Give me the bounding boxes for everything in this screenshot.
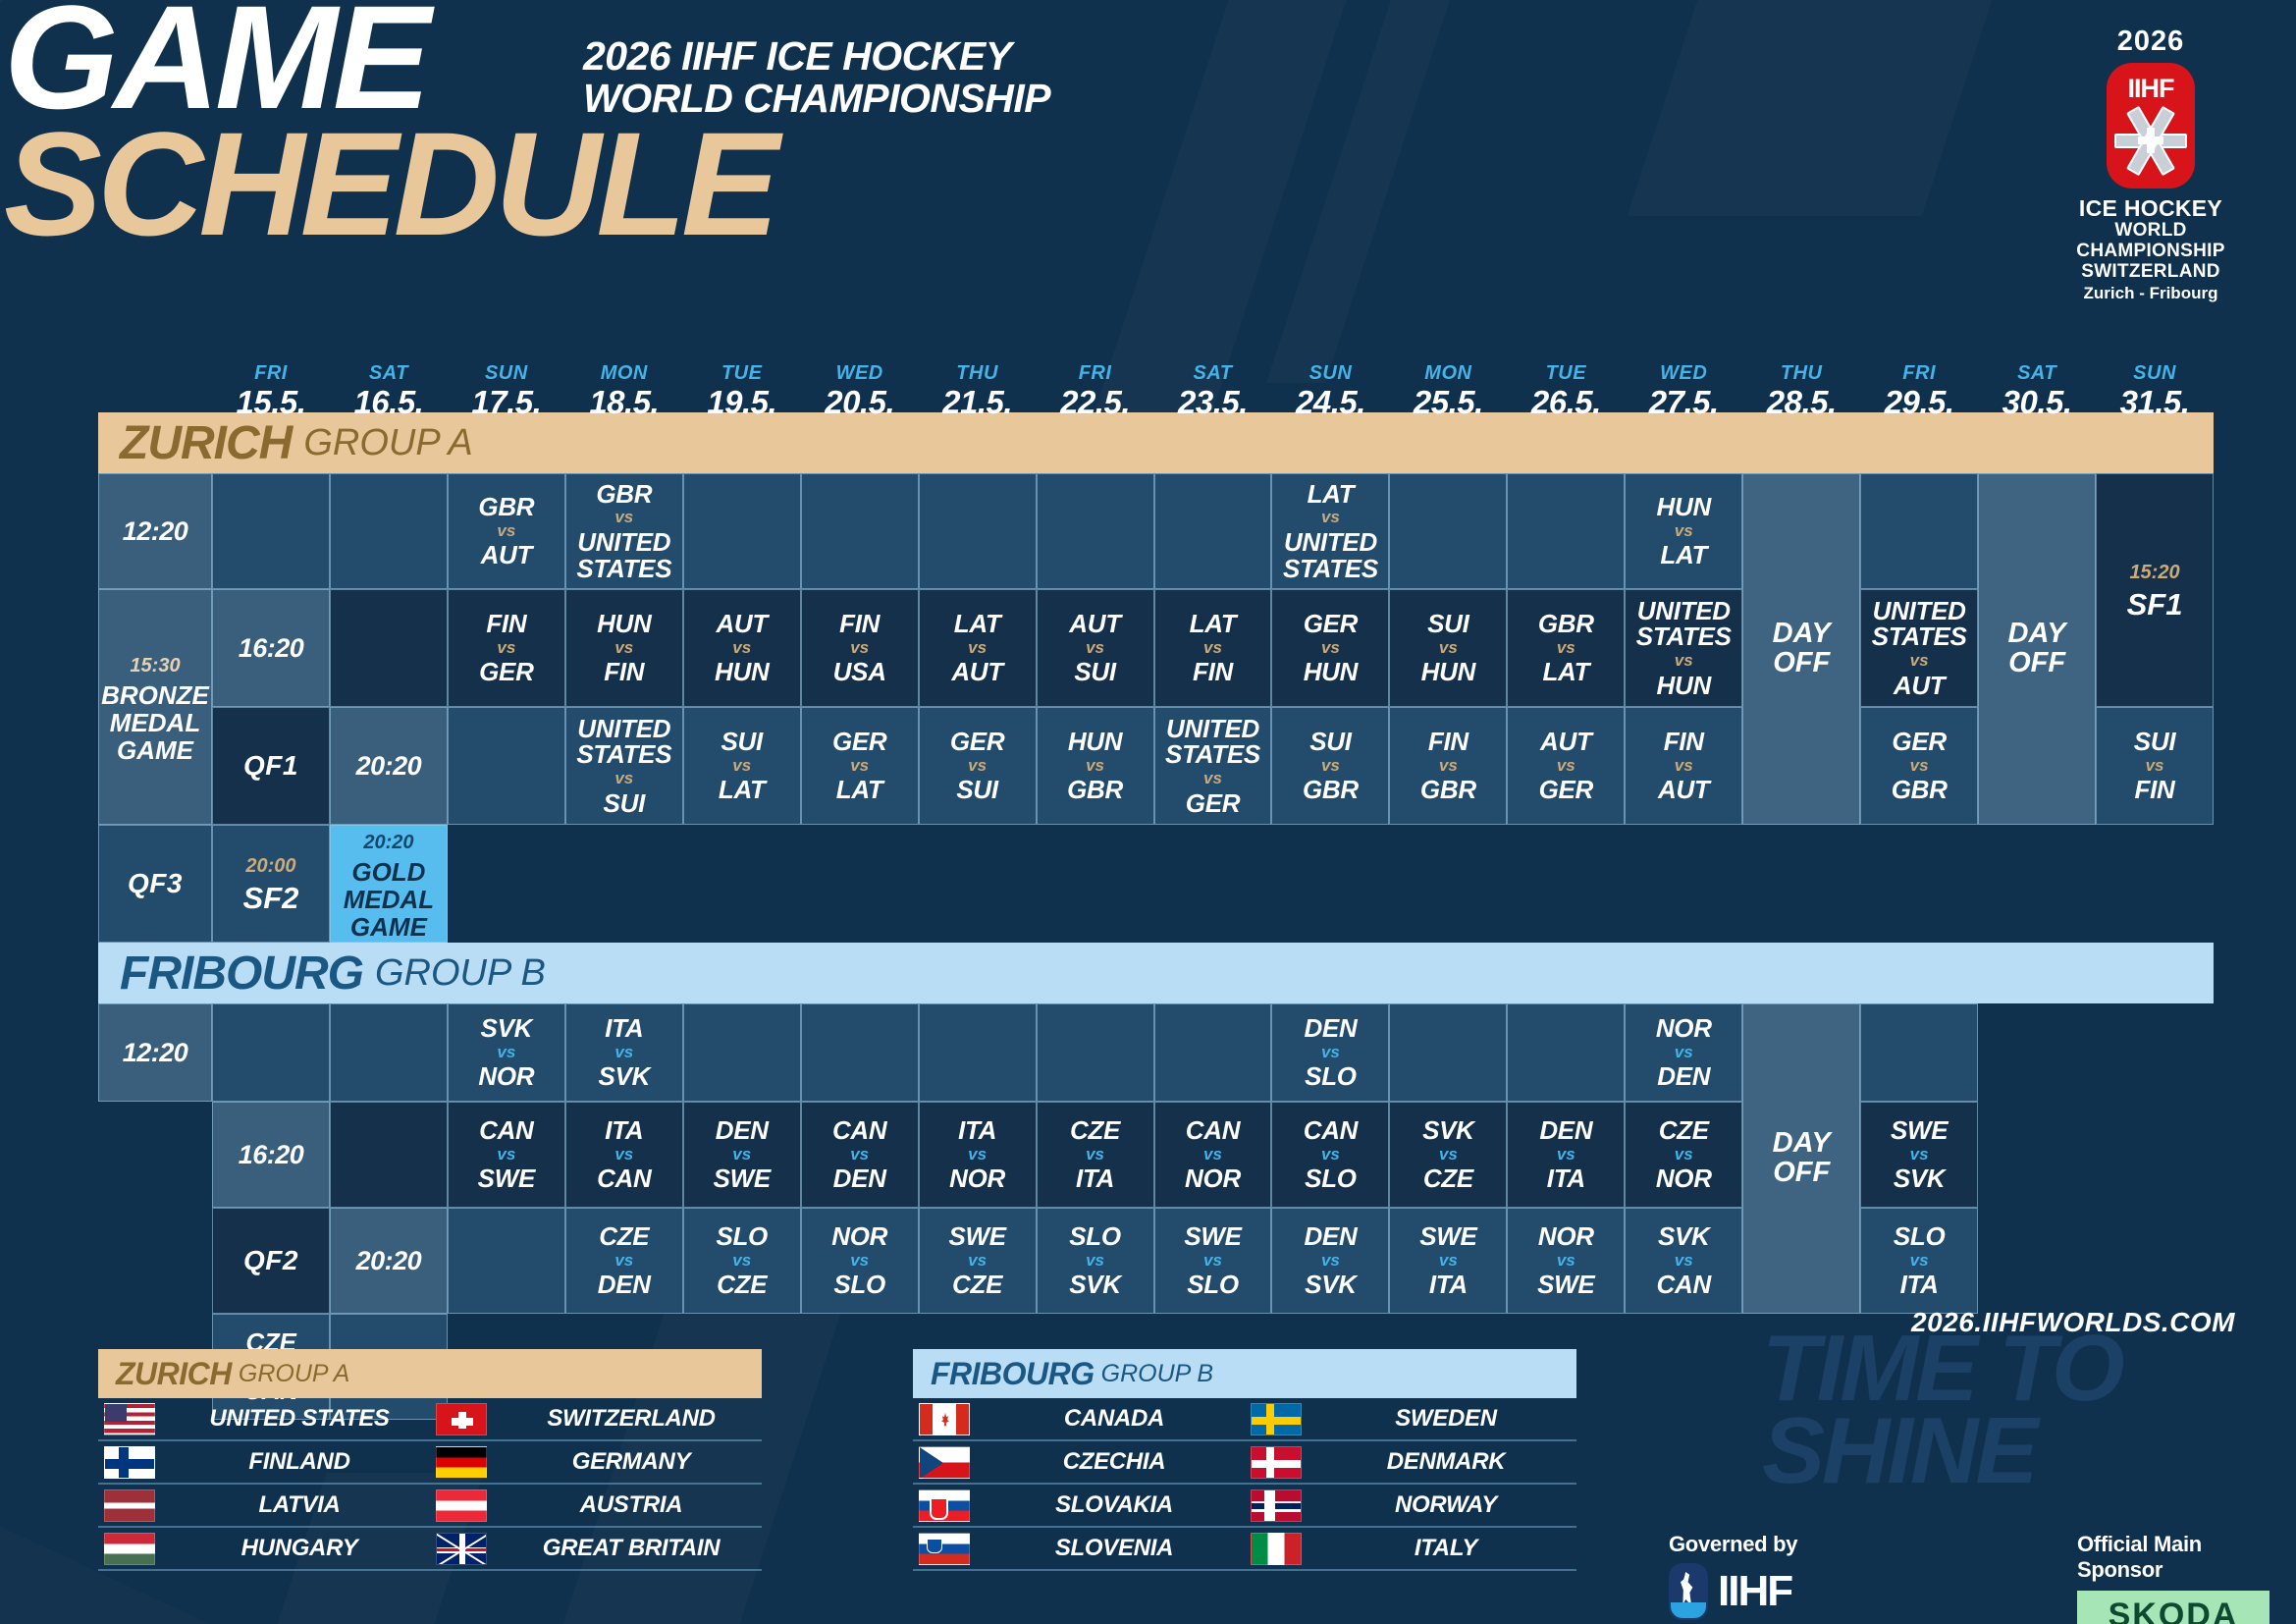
match-cell[interactable]: GERvsHUN: [1271, 589, 1389, 707]
vs-label: vs: [716, 1250, 768, 1272]
home-team: SUI: [719, 729, 766, 755]
date-number: 21.5.: [919, 386, 1037, 418]
date-header-3: SUN17.5.: [448, 361, 565, 418]
match-cell[interactable]: SVKvsCAN: [1625, 1208, 1742, 1314]
home-team: DEN: [1304, 1223, 1357, 1250]
match-cell[interactable]: LATvsUNITED STATES: [1271, 473, 1389, 589]
team-name: SLOVAKIA: [984, 1491, 1245, 1519]
legend-b-city: FRIBOURG: [931, 1356, 1095, 1392]
group-b-band-header: FRIBOURG GROUP B: [98, 943, 2214, 1003]
vs-label: vs: [1070, 1144, 1120, 1166]
match-cell[interactable]: NORvsSWE: [1507, 1208, 1625, 1314]
team-name: CZECHIA: [984, 1448, 1245, 1476]
legend-group-a: ZURICH GROUP A UNITED STATESSWITZERLANDF…: [98, 1349, 762, 1571]
home-team: GBR: [1538, 611, 1594, 637]
home-team: CAN: [478, 1117, 535, 1144]
away-team: FIN: [1190, 659, 1237, 685]
vs-label: vs: [719, 755, 766, 778]
vs-label: vs: [1658, 755, 1710, 778]
vs-label: vs: [1304, 1250, 1357, 1272]
vs-label: vs: [1069, 637, 1121, 660]
vs-label: vs: [1538, 637, 1594, 660]
match-cell[interactable]: CANvsNOR: [1154, 1102, 1272, 1208]
empty-cell: [1037, 473, 1154, 589]
match-cell[interactable]: CZEvsNOR: [1625, 1102, 1742, 1208]
empty-cell: [1154, 1003, 1272, 1102]
vs-label: vs: [1422, 1144, 1474, 1166]
vs-label: vs: [2134, 755, 2175, 778]
vs-label: vs: [1419, 1250, 1476, 1272]
empty-cell: [1389, 473, 1507, 589]
away-team: AUT: [951, 659, 1003, 685]
quarterfinal-3-cell[interactable]: QF3: [98, 825, 212, 943]
de-flag: [436, 1446, 487, 1479]
match-cell[interactable]: DENvsSWE: [683, 1102, 801, 1208]
logo-line-4: SWITZERLAND: [2038, 262, 2264, 283]
match-cell[interactable]: SUIvsLAT: [683, 707, 801, 825]
date-number: 18.5.: [565, 386, 683, 418]
qf1-label: QF1: [243, 750, 298, 782]
date-header-6: WED20.5.: [801, 361, 919, 418]
vs-label: vs: [715, 637, 769, 660]
match-cell[interactable]: CZEvsITA: [1037, 1102, 1154, 1208]
home-team: NOR: [1537, 1223, 1594, 1250]
home-team: SLO: [1069, 1223, 1121, 1250]
match-cell[interactable]: SWEvsITA: [1389, 1208, 1507, 1314]
legend-row: CANADASWEDEN: [913, 1398, 1576, 1441]
legend-a-header: ZURICH GROUP A: [98, 1349, 762, 1398]
date-header-spacer: [98, 361, 212, 418]
group-b-label: GROUP B: [375, 952, 546, 995]
quarterfinal-2-cell[interactable]: QF2: [212, 1208, 330, 1314]
match-cell[interactable]: UNITED STATESvsSUI: [565, 707, 683, 825]
match-cell[interactable]: AUTvsHUN: [683, 589, 801, 707]
empty-cell: [1978, 1003, 2096, 1314]
vs-label: vs: [1420, 755, 1476, 778]
home-team: LAT: [1190, 611, 1237, 637]
home-team: DEN: [1304, 1015, 1357, 1042]
away-team: GBR: [1420, 777, 1476, 803]
match-cell[interactable]: GBRvsLAT: [1507, 589, 1625, 707]
date-number: 19.5.: [683, 386, 801, 418]
event-logo: 2026 IIHF ICE HOCKEY WORLD CHAMPIONSHIP …: [2038, 27, 2264, 303]
home-team: UNITED STATES: [568, 716, 680, 768]
home-team: SUI: [1421, 611, 1475, 637]
dk-flag: [1251, 1446, 1302, 1479]
match-cell[interactable]: HUNvsGBR: [1037, 707, 1154, 825]
time-label-a-1: 12:20: [98, 473, 212, 589]
match-cell[interactable]: LATvsFIN: [1154, 589, 1272, 707]
away-team: FIN: [597, 659, 651, 685]
vs-label: vs: [1891, 1144, 1948, 1166]
time-value: 16:20: [239, 633, 304, 664]
empty-cell: [1037, 1003, 1154, 1102]
vs-label: vs: [1274, 507, 1386, 529]
away-team: DEN: [1656, 1063, 1712, 1090]
vs-label: vs: [1157, 768, 1269, 790]
team-name: SWITZERLAND: [501, 1405, 762, 1433]
match-cell[interactable]: FINvsGBR: [1389, 707, 1507, 825]
away-team: GBR: [1303, 777, 1359, 803]
match-cell[interactable]: SUIvsGBR: [1271, 707, 1389, 825]
date-dow: SUN: [2096, 363, 2214, 383]
date-dow: THU: [919, 363, 1037, 383]
date-header-8: FRI22.5.: [1037, 361, 1154, 418]
date-dow: TUE: [1507, 363, 1625, 383]
home-team: SWE: [1891, 1117, 1948, 1144]
home-team: CAN: [1304, 1117, 1358, 1144]
date-dow: SAT: [1154, 363, 1272, 383]
governed-by-caption: Governed by: [1669, 1532, 1797, 1557]
sf1-label: SF1: [2127, 587, 2183, 623]
home-team: ITA: [597, 1117, 651, 1144]
gold-medal-game-cell[interactable]: 20:20GOLDMEDALGAME: [330, 825, 448, 943]
home-team: HUN: [1657, 494, 1711, 520]
match-cell[interactable]: CZEvsDEN: [565, 1208, 683, 1314]
away-team: NOR: [1656, 1165, 1712, 1192]
away-team: DEN: [598, 1272, 651, 1298]
away-team: GER: [479, 659, 533, 685]
vs-label: vs: [1892, 755, 1948, 778]
vs-label: vs: [1628, 650, 1739, 673]
match-cell[interactable]: SLOvsCZE: [683, 1208, 801, 1314]
home-team: FIN: [833, 611, 886, 637]
match-cell[interactable]: HUNvsLAT: [1625, 473, 1742, 589]
vs-label: vs: [950, 755, 1004, 778]
match-cell[interactable]: CANvsDEN: [801, 1102, 919, 1208]
semifinal-1-cell[interactable]: 15:20SF1: [2096, 473, 2214, 707]
empty-cell: [330, 1102, 448, 1208]
team-name: ITALY: [1315, 1535, 1576, 1562]
match-cell[interactable]: UNITED STATESvsGER: [1154, 707, 1272, 825]
date-dow: FRI: [212, 363, 330, 383]
date-number: 15.5.: [212, 386, 330, 418]
day-off-label: DAYOFF: [2008, 620, 2066, 677]
away-team: CZE: [948, 1272, 1005, 1298]
snowflake-icon: [2110, 100, 2191, 181]
home-team: CZE: [1070, 1117, 1120, 1144]
match-cell[interactable]: SLOvsSVK: [1037, 1208, 1154, 1314]
away-team: ITA: [1419, 1272, 1476, 1298]
vs-label: vs: [599, 1042, 651, 1064]
away-team: CAN: [1657, 1272, 1711, 1298]
team-name: DENMARK: [1315, 1448, 1576, 1476]
cz-flag: [919, 1446, 970, 1479]
date-dow: SUN: [448, 363, 565, 383]
away-team: HUN: [1421, 659, 1475, 685]
legend-group-b: FRIBOURG GROUP B CANADASWEDENCZECHIADENM…: [913, 1349, 1576, 1571]
date-number: 29.5.: [1860, 386, 1978, 418]
subtitle-line-1: 2026 IIHF ICE HOCKEY: [583, 35, 1050, 78]
vs-label: vs: [1539, 755, 1593, 778]
iihf-wordmark: IIHF: [1718, 1567, 1791, 1616]
date-dow: FRI: [1037, 363, 1154, 383]
home-team: SLO: [1894, 1223, 1946, 1250]
match-cell[interactable]: SVKvsNOR: [448, 1003, 565, 1102]
quarterfinal-1-cell[interactable]: QF1: [212, 707, 330, 825]
away-team: NOR: [1185, 1165, 1241, 1192]
logo-year: 2026: [2038, 27, 2264, 56]
time-label-b-1: 12:20: [98, 1003, 212, 1102]
match-cell[interactable]: SWEvsSVK: [1860, 1102, 1978, 1208]
match-cell[interactable]: GERvsSUI: [919, 707, 1037, 825]
bronze-medal-game-cell[interactable]: 15:30BRONZEMEDALGAME: [98, 589, 212, 825]
date-header-16: SAT30.5.: [1978, 361, 2096, 418]
empty-cell: [1507, 1003, 1625, 1102]
subtitle-line-2: WORLD CHAMPIONSHIP: [583, 78, 1050, 120]
home-team: SUI: [2134, 729, 2175, 755]
match-cell[interactable]: FINvsUSA: [801, 589, 919, 707]
team-name: GREAT BRITAIN: [501, 1535, 762, 1562]
away-team: SLO: [1184, 1272, 1241, 1298]
ch-flag: [436, 1403, 487, 1435]
home-team: DEN: [1539, 1117, 1592, 1144]
date-header-5: TUE19.5.: [683, 361, 801, 418]
iihf-shield-icon: IIHF: [2107, 63, 2195, 189]
home-team: AUT: [1539, 729, 1593, 755]
home-team: SVK: [1657, 1223, 1711, 1250]
match-cell[interactable]: HUNvsFIN: [565, 589, 683, 707]
date-number: 27.5.: [1625, 386, 1742, 418]
empty-cell: [448, 1208, 565, 1314]
match-cell[interactable]: SWEvsCZE: [919, 1208, 1037, 1314]
group-b-city: FRIBOURG: [120, 947, 363, 1001]
away-team: DEN: [832, 1165, 886, 1192]
legend-row: HUNGARYGREAT BRITAIN: [98, 1528, 762, 1571]
home-team: SWE: [1184, 1223, 1241, 1250]
home-team: SWE: [948, 1223, 1005, 1250]
date-number: 30.5.: [1978, 386, 2096, 418]
empty-cell: [212, 1003, 330, 1102]
empty-cell: [448, 707, 565, 825]
home-team: SUI: [1303, 729, 1359, 755]
home-team: UNITED STATES: [1628, 598, 1739, 650]
match-cell[interactable]: DENvsSVK: [1271, 1208, 1389, 1314]
date-header-9: SAT23.5.: [1154, 361, 1272, 418]
sk-flag: [919, 1489, 970, 1522]
home-team: AUT: [715, 611, 769, 637]
match-cell[interactable]: CANvsSLO: [1271, 1102, 1389, 1208]
date-dow: WED: [1625, 363, 1742, 383]
date-dow: WED: [801, 363, 919, 383]
skoda-wordmark: SKODA: [2109, 1597, 2239, 1624]
home-team: FIN: [479, 611, 533, 637]
match-cell[interactable]: NORvsSLO: [801, 1208, 919, 1314]
empty-cell: [1860, 1003, 1978, 1102]
away-team: HUN: [1628, 673, 1739, 699]
team-name: GERMANY: [501, 1448, 762, 1476]
match-cell[interactable]: SLOvsITA: [1860, 1208, 1978, 1314]
date-header-15: FRI29.5.: [1860, 361, 1978, 418]
home-team: LAT: [951, 611, 1003, 637]
home-team: CZE: [598, 1223, 651, 1250]
away-team: SUI: [950, 777, 1004, 803]
home-team: LAT: [1274, 481, 1386, 508]
match-cell[interactable]: GBRvsAUT: [448, 473, 565, 589]
main-sponsor-caption: Official Main Sponsor: [2077, 1532, 2277, 1583]
date-number: 20.5.: [801, 386, 919, 418]
match-cell[interactable]: GBRvsUNITED STATES: [565, 473, 683, 589]
match-cell[interactable]: AUTvsGER: [1507, 707, 1625, 825]
iihf-player-icon: [1669, 1563, 1708, 1620]
vs-label: vs: [478, 1144, 535, 1166]
group-a-band-header: ZURICH GROUP A: [98, 412, 2214, 473]
date-header-2: SAT16.5.: [330, 361, 448, 418]
group-a-grid: 12:20GBRvsAUTGBRvsUNITED STATESLATvsUNIT…: [98, 473, 2214, 943]
match-cell[interactable]: SUIvsHUN: [1389, 589, 1507, 707]
empty-cell: [1860, 473, 1978, 589]
away-team: SUI: [1069, 659, 1121, 685]
empty-cell: [330, 589, 448, 707]
vs-label: vs: [1304, 1042, 1357, 1064]
home-team: CAN: [1185, 1117, 1241, 1144]
logo-line-3: CHAMPIONSHIP: [2038, 242, 2264, 262]
empty-cell: [683, 1003, 801, 1102]
logo-iihf-mark: IIHF: [2107, 74, 2195, 104]
day-off-b-1: DAYOFF: [1742, 1003, 1860, 1314]
home-team: FIN: [1420, 729, 1476, 755]
time-label-a-2: 16:20: [212, 589, 330, 707]
away-team: LAT: [1538, 659, 1594, 685]
no-flag: [1251, 1489, 1302, 1522]
date-header-17: SUN31.5.: [2096, 361, 2214, 418]
away-team: SVK: [599, 1063, 651, 1090]
match-cell[interactable]: GERvsLAT: [801, 707, 919, 825]
away-team: USA: [833, 659, 886, 685]
team-name: FINLAND: [169, 1448, 430, 1476]
vs-label: vs: [1657, 520, 1711, 543]
home-team: GBR: [478, 494, 534, 520]
fi-flag: [104, 1446, 155, 1479]
date-header-7: THU21.5.: [919, 361, 1037, 418]
home-team: UNITED STATES: [1863, 598, 1975, 650]
match-cell[interactable]: ITAvsSVK: [565, 1003, 683, 1102]
us-flag: [104, 1403, 155, 1435]
watermark-line-2: SHINE: [1762, 1410, 2122, 1492]
home-team: FIN: [1658, 729, 1710, 755]
legend-row: LATVIAAUSTRIA: [98, 1485, 762, 1528]
time-label-b-3: 20:20: [330, 1208, 448, 1314]
date-header-11: MON25.5.: [1389, 361, 1507, 418]
time-value: 12:20: [123, 1038, 188, 1068]
match-cell[interactable]: CANvsSWE: [448, 1102, 565, 1208]
match-cell[interactable]: AUTvsSUI: [1037, 589, 1154, 707]
match-cell[interactable]: UNITED STATESvsAUT: [1860, 589, 1978, 707]
away-team: ITA: [1894, 1272, 1946, 1298]
match-cell[interactable]: SWEvsSLO: [1154, 1208, 1272, 1314]
vs-label: vs: [597, 637, 651, 660]
away-team: AUT: [1658, 777, 1710, 803]
match-cell[interactable]: ITAvsNOR: [919, 1102, 1037, 1208]
away-team: SWE: [478, 1165, 535, 1192]
home-team: UNITED STATES: [1157, 716, 1269, 768]
day-off-a-2: DAYOFF: [1978, 473, 2096, 825]
legend-row: UNITED STATESSWITZERLAND: [98, 1398, 762, 1441]
home-team: HUN: [597, 611, 651, 637]
empty-cell: [1154, 473, 1272, 589]
date-header-10: SUN24.5.: [1271, 361, 1389, 418]
home-team: DEN: [714, 1117, 771, 1144]
vs-label: vs: [1863, 650, 1975, 673]
sf2-time: 20:00: [245, 851, 295, 881]
date-number: 25.5.: [1389, 386, 1507, 418]
match-cell[interactable]: LATvsAUT: [919, 589, 1037, 707]
it-flag: [1251, 1533, 1302, 1565]
date-number: 17.5.: [448, 386, 565, 418]
at-flag: [436, 1489, 487, 1522]
date-number: 31.5.: [2096, 386, 2214, 418]
vs-label: vs: [479, 637, 533, 660]
bronze-label: BRONZEMEDALGAME: [101, 681, 209, 764]
home-team: GBR: [568, 481, 680, 508]
lv-flag: [104, 1489, 155, 1522]
empty-cell: [801, 473, 919, 589]
vs-label: vs: [949, 1144, 1005, 1166]
away-team: SLO: [1304, 1063, 1357, 1090]
date-dow: THU: [1742, 363, 1860, 383]
vs-label: vs: [1185, 1144, 1241, 1166]
legend-row: SLOVAKIANORWAY: [913, 1485, 1576, 1528]
home-team: NOR: [1656, 1015, 1712, 1042]
empty-cell: [919, 473, 1037, 589]
empty-cell: [2096, 1003, 2214, 1314]
away-team: FIN: [2134, 777, 2175, 803]
legend-row: SLOVENIAITALY: [913, 1528, 1576, 1571]
match-cell[interactable]: NORvsDEN: [1625, 1003, 1742, 1102]
match-cell[interactable]: GERvsGBR: [1860, 707, 1978, 825]
away-team: UNITED STATES: [1274, 529, 1386, 581]
away-team: LAT: [1657, 542, 1711, 568]
empty-cell: [1389, 1003, 1507, 1102]
vs-label: vs: [948, 1250, 1005, 1272]
away-team: SLO: [1304, 1165, 1358, 1192]
empty-cell: [919, 1003, 1037, 1102]
empty-cell: [330, 473, 448, 589]
match-cell[interactable]: DENvsSLO: [1271, 1003, 1389, 1102]
hu-flag: [104, 1533, 155, 1565]
match-cell[interactable]: ITAvsCAN: [565, 1102, 683, 1208]
time-label-a-3: 20:20: [330, 707, 448, 825]
time-value: 20:20: [356, 1246, 422, 1276]
event-subtitle: 2026 IIHF ICE HOCKEY WORLD CHAMPIONSHIP: [583, 35, 1050, 121]
away-team: SLO: [831, 1272, 887, 1298]
empty-cell: [1507, 473, 1625, 589]
match-cell[interactable]: SVKvsCZE: [1389, 1102, 1507, 1208]
date-dow: SAT: [330, 363, 448, 383]
empty-cell: [330, 1003, 448, 1102]
legend-b-header: FRIBOURG GROUP B: [913, 1349, 1576, 1398]
match-cell[interactable]: DENvsITA: [1507, 1102, 1625, 1208]
away-team: ITA: [1070, 1165, 1120, 1192]
watermark-slogan: TIME TO SHINE: [1762, 1327, 2122, 1493]
match-cell[interactable]: SUIvsFIN: [2096, 707, 2214, 825]
team-name: NORWAY: [1315, 1491, 1576, 1519]
match-cell[interactable]: FINvsGER: [448, 589, 565, 707]
vs-label: vs: [1067, 755, 1123, 778]
date-dow: MON: [1389, 363, 1507, 383]
group-a-label: GROUP A: [303, 422, 472, 464]
match-cell[interactable]: FINvsAUT: [1625, 707, 1742, 825]
away-team: CAN: [597, 1165, 651, 1192]
vs-label: vs: [1304, 637, 1358, 660]
title-schedule: SCHEDULE: [0, 121, 774, 247]
home-team: GER: [950, 729, 1004, 755]
vs-label: vs: [568, 768, 680, 790]
date-number: 22.5.: [1037, 386, 1154, 418]
semifinal-2-cell[interactable]: 20:00SF2: [212, 825, 330, 943]
match-cell[interactable]: UNITED STATESvsHUN: [1625, 589, 1742, 707]
date-number: 23.5.: [1154, 386, 1272, 418]
